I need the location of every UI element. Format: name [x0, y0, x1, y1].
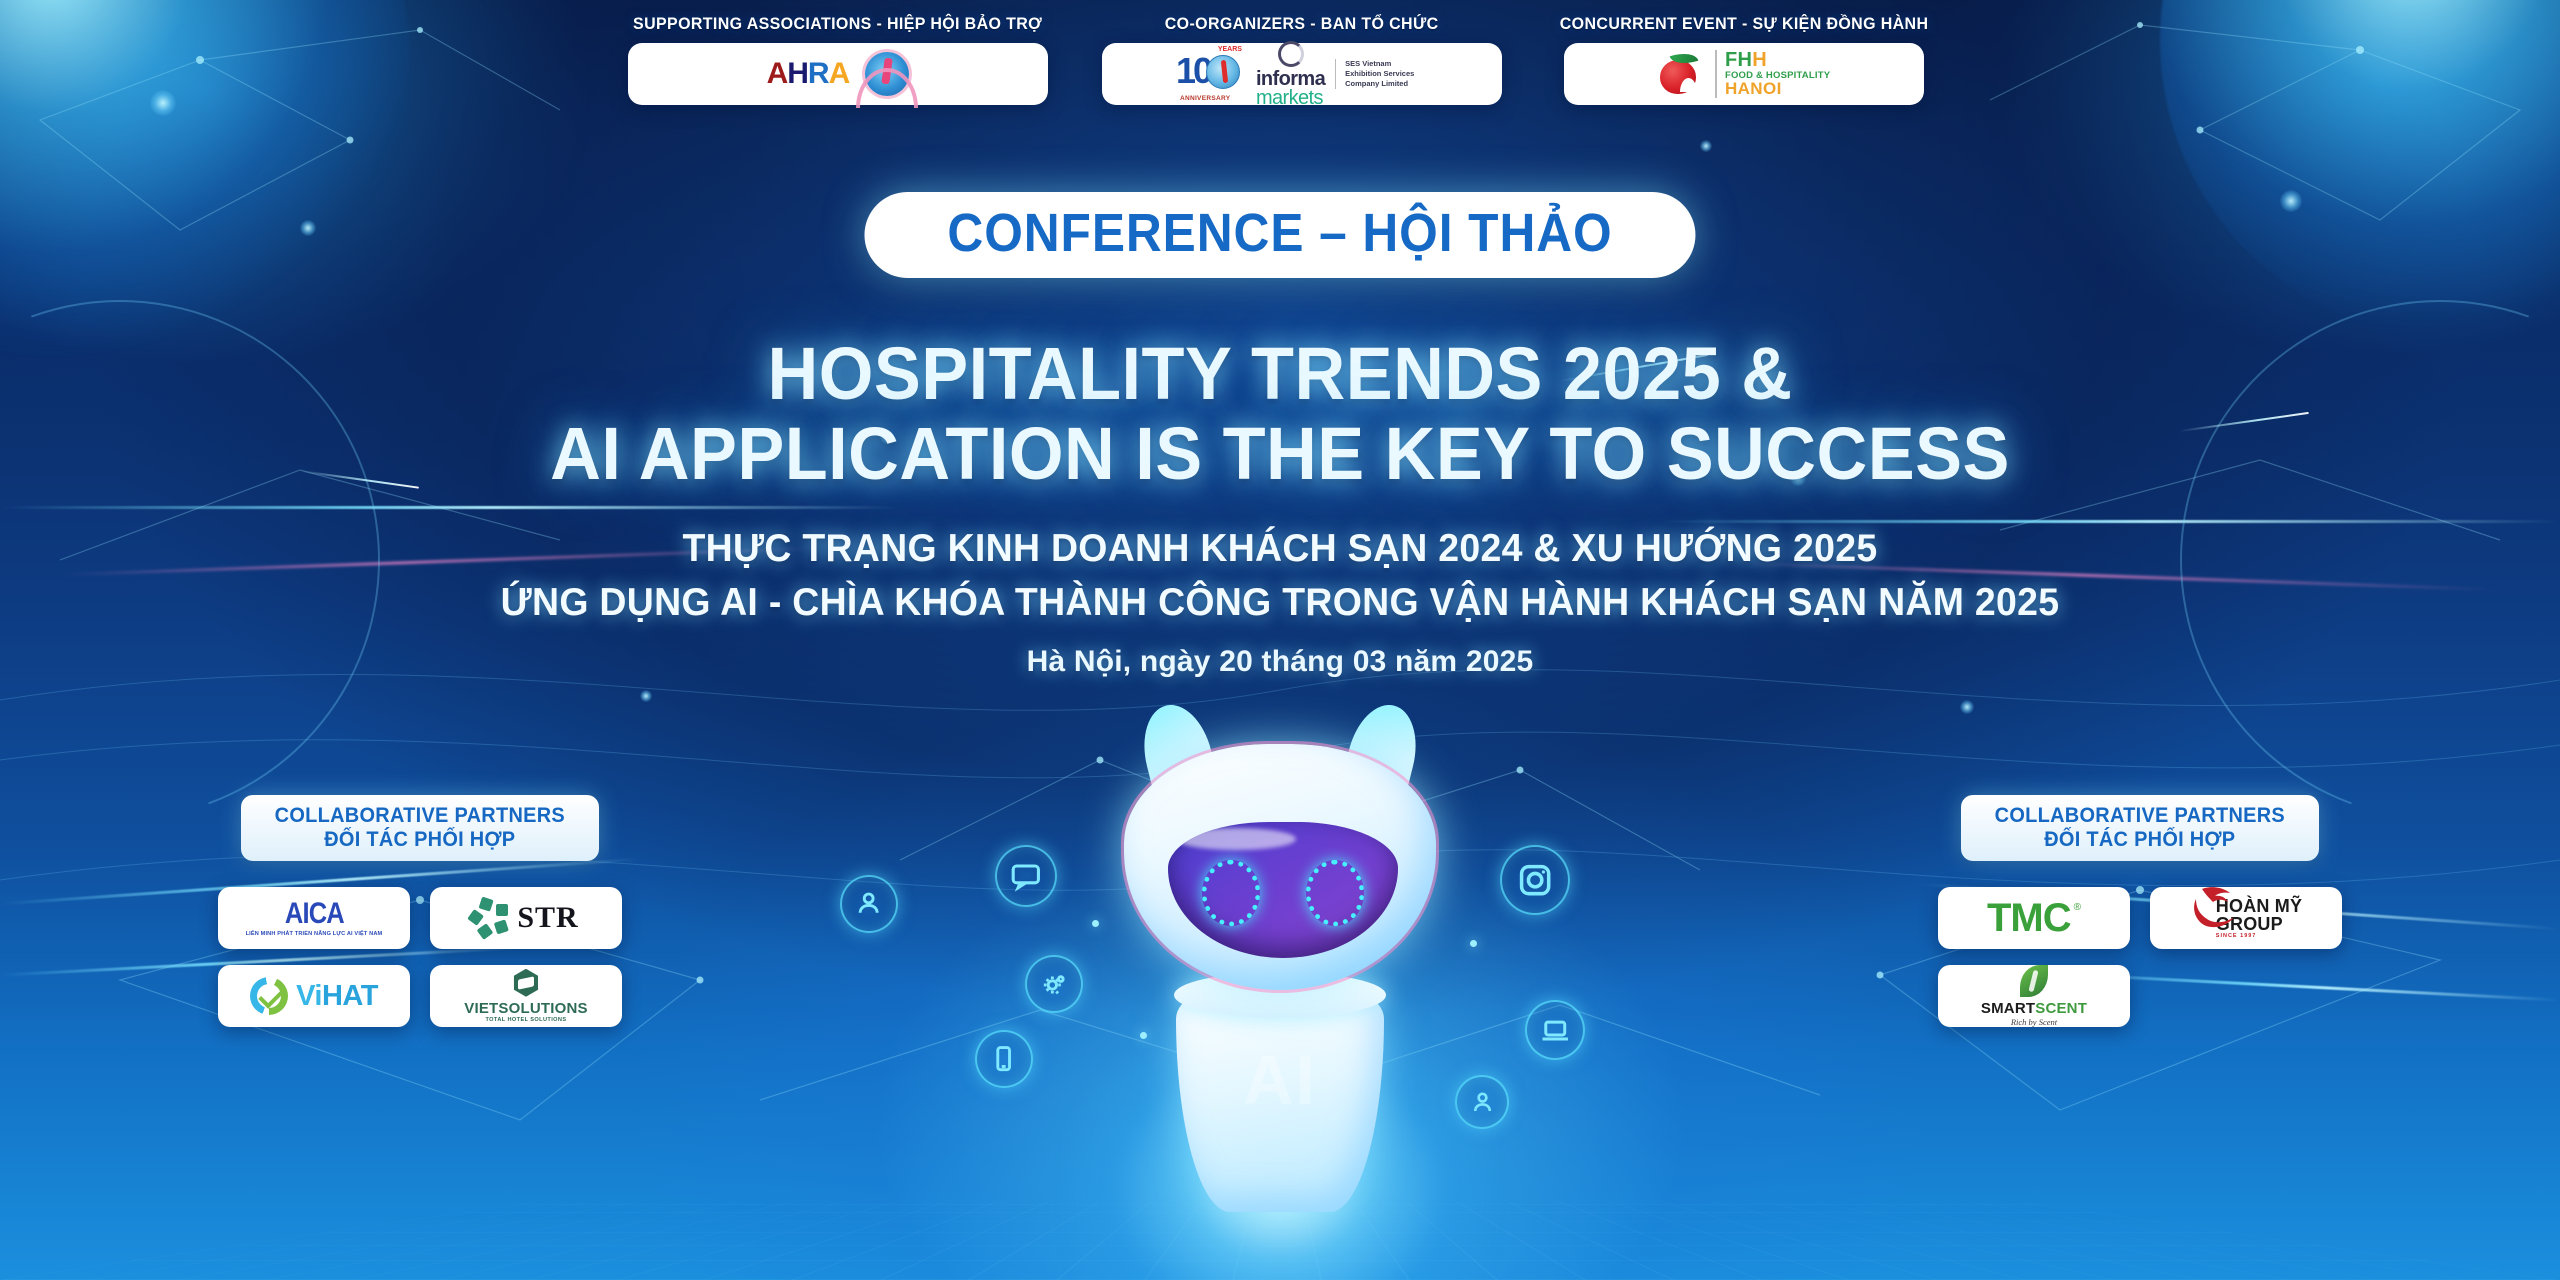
- informa-line1: informa: [1256, 70, 1325, 88]
- str-mark: STR: [517, 901, 578, 935]
- gear-icon: [1025, 955, 1083, 1013]
- co-organizers-group: CO-ORGANIZERS - BAN TỔ CHỨC 10 YEARS ANN…: [1102, 14, 1502, 105]
- partners-left-row-1: AICA LIÊN MINH PHÁT TRIỂN NĂNG LỰC AI VI…: [218, 887, 622, 949]
- visor-shine: [1176, 828, 1296, 850]
- vietsolutions-tagline: TOTAL HOTEL SOLUTIONS: [464, 1018, 587, 1024]
- mascot-eye-right: [1306, 860, 1364, 926]
- mascot-eye-left: [1202, 860, 1260, 926]
- informa-line2: markets: [1256, 89, 1325, 107]
- main-headline: HOSPITALITY TRENDS 2025 & AI APPLICATION…: [0, 334, 2560, 494]
- partners-left-label-vi: ĐỐI TÁC PHỐI HỢP: [275, 828, 565, 852]
- bokeh-dot: [1960, 700, 1974, 714]
- ses-company-text: SES Vietnam Exhibition Services Company …: [1335, 59, 1427, 89]
- partners-left-label-pill: COLLABORATIVE PARTNERS ĐỐI TÁC PHỐI HỢP: [241, 795, 599, 861]
- smartscent-mark-b: SCENT: [2035, 1000, 2087, 1017]
- informa-ring-icon: [1278, 41, 1304, 67]
- ahra-letter-2: H: [787, 57, 808, 90]
- apple-icon: [1657, 54, 1699, 94]
- partners-right-label-pill: COLLABORATIVE PARTNERS ĐỐI TÁC PHỐI HỢP: [1961, 795, 2319, 861]
- aica-mark: AICA: [256, 899, 372, 929]
- partners-left-row-2: ViHAT VIETSOLUTIONS TOTAL HOTEL SOLUTION…: [218, 965, 622, 1027]
- vietsolutions-hex-icon: [512, 969, 540, 997]
- bokeh-dot: [640, 690, 652, 702]
- partners-right-rows: TMC ® HOÀN MỸ GROUP SINCE 1997: [1938, 887, 2342, 1027]
- partner-logo-str: STR: [430, 887, 622, 949]
- fhh-line3: HANOI: [1725, 80, 1830, 97]
- vihat-logo: ViHAT: [250, 977, 378, 1015]
- vietsolutions-mark: VIETSOLUTIONS: [464, 1001, 587, 1016]
- event-date-text: Hà Nội, ngày 20 tháng 03 năm 2025: [1027, 645, 1534, 678]
- camera-icon: [1500, 845, 1570, 915]
- dragon-icon: [2188, 883, 2240, 929]
- smartscent-mark: SMARTSCENT: [1981, 1001, 2087, 1016]
- ahra-letter-1: A: [767, 57, 788, 90]
- smartscent-mark-a: SMART: [1981, 1000, 2035, 1017]
- conference-title-text: CONFERENCE – HỘI THẢO: [947, 206, 1612, 260]
- ahra-letter-3: R: [808, 57, 829, 90]
- bokeh-dot: [1700, 140, 1712, 152]
- partner-logo-vihat: ViHAT: [218, 965, 410, 1027]
- mascot-visor: [1168, 822, 1398, 958]
- anniversary-sub-label: ANNIVERSARY: [1180, 95, 1230, 102]
- tmc-mark: TMC: [1987, 898, 2071, 938]
- vihat-swoosh-icon: [250, 977, 288, 1015]
- concurrent-event-label: CONCURRENT EVENT - SỰ KIỆN ĐỒNG HÀNH: [1559, 14, 1928, 34]
- collaborative-partners-right: COLLABORATIVE PARTNERS ĐỐI TÁC PHỐI HỢP …: [1938, 795, 2342, 1027]
- vha-association-logo: [865, 52, 909, 96]
- partners-right-row-1: TMC ® HOÀN MỸ GROUP SINCE 1997: [1938, 887, 2342, 949]
- anniversary-number: 10: [1176, 53, 1210, 89]
- aica-tagline: LIÊN MINH PHÁT TRIỂN NĂNG LỰC AI VIỆT NA…: [246, 932, 383, 938]
- event-date-line: Hà Nội, ngày 20 tháng 03 năm 2025: [0, 645, 2560, 679]
- ahra-letter-4: A: [829, 57, 850, 90]
- aica-logo: AICA LIÊN MINH PHÁT TRIỂN NĂNG LỰC AI VI…: [246, 899, 383, 938]
- laptop-icon: [1525, 1000, 1585, 1060]
- headline-line-2: AI APPLICATION IS THE KEY TO SUCCESS: [64, 414, 2496, 494]
- partners-left-rows: AICA LIÊN MINH PHÁT TRIỂN NĂNG LỰC AI VI…: [218, 887, 622, 1027]
- partners-right-label-en: COLLABORATIVE PARTNERS: [1995, 804, 2285, 828]
- supporting-associations-group: SUPPORTING ASSOCIATIONS - HIỆP HỘI BẢO T…: [620, 14, 1055, 105]
- partner-logo-aica: AICA LIÊN MINH PHÁT TRIỂN NĂNG LỰC AI VI…: [218, 887, 410, 949]
- anniversary-years-label: YEARS: [1218, 46, 1242, 53]
- partners-right-row-2: SMARTSCENT Rich by Scent: [1938, 965, 2342, 1027]
- supporting-associations-logo-card: AHRA: [628, 43, 1048, 105]
- partner-logo-vietsolutions: VIETSOLUTIONS TOTAL HOTEL SOLUTIONS: [430, 965, 622, 1027]
- partner-logo-tmc: TMC ®: [1938, 887, 2130, 949]
- str-logo: STR: [473, 901, 578, 935]
- network-node: [1470, 940, 1477, 947]
- mascot-head: [1124, 744, 1436, 990]
- informa-markets-logo: informa markets SES Vietnam Exhibition S…: [1256, 41, 1427, 107]
- tmc-registered-mark: ®: [2074, 902, 2081, 913]
- smartscent-logo: SMARTSCENT Rich by Scent: [1981, 965, 2087, 1027]
- mascot-chest-mark: AI: [1100, 1040, 1460, 1120]
- hoan-my-line3: SINCE 1997: [2216, 934, 2302, 940]
- user-icon: [840, 875, 898, 933]
- partners-right-label-vi: ĐỐI TÁC PHỐI HỢP: [1995, 828, 2285, 852]
- concurrent-event-logo-card: FHH FOOD & HOSPITALITY HANOI: [1564, 43, 1924, 105]
- concurrent-event-group: CONCURRENT EVENT - SỰ KIỆN ĐỒNG HÀNH FHH…: [1548, 14, 1940, 105]
- conference-title-pill: CONFERENCE – HỘI THẢO: [864, 192, 1695, 278]
- bokeh-dot: [2280, 190, 2302, 212]
- mobile-icon: [975, 1030, 1033, 1088]
- vihat-mark-a: Vi: [296, 980, 322, 1012]
- vchs-anniversary-logo: 10 YEARS ANNIVERSARY: [1176, 49, 1240, 99]
- collaborative-partners-left: COLLABORATIVE PARTNERS ĐỐI TÁC PHỐI HỢP …: [218, 795, 622, 1027]
- fhh-logo-text: FHH FOOD & HOSPITALITY HANOI: [1715, 50, 1830, 97]
- co-organizers-logo-card: 10 YEARS ANNIVERSARY informa markets SES…: [1102, 43, 1502, 105]
- subtitle-line-1: THỰC TRẠNG KINH DOANH KHÁCH SẠN 2024 & X…: [51, 522, 2509, 576]
- informa-text-block: informa markets: [1256, 41, 1325, 107]
- supporting-associations-label: SUPPORTING ASSOCIATIONS - HIỆP HỘI BẢO T…: [633, 14, 1042, 34]
- top-partner-strip: SUPPORTING ASSOCIATIONS - HIỆP HỘI BẢO T…: [0, 14, 2560, 105]
- network-node: [1092, 920, 1099, 927]
- str-pinwheel-icon: [473, 901, 507, 935]
- bokeh-dot: [300, 220, 316, 236]
- ai-robot-mascot: AI: [1100, 710, 1460, 1210]
- vihat-mark: ViHAT: [296, 980, 378, 1013]
- partners-left-label-en: COLLABORATIVE PARTNERS: [275, 804, 565, 828]
- partner-logo-smartscent: SMARTSCENT Rich by Scent: [1938, 965, 2130, 1027]
- vietsolutions-logo: VIETSOLUTIONS TOTAL HOTEL SOLUTIONS: [464, 969, 587, 1024]
- hoan-my-logo: HOÀN MỸ GROUP SINCE 1997: [2190, 897, 2302, 939]
- fhh-initials: FHH: [1725, 50, 1830, 70]
- chat-icon: [995, 845, 1057, 907]
- smartscent-leaf-icon: [2020, 965, 2048, 997]
- headline-line-1: HOSPITALITY TRENDS 2025 &: [64, 334, 2496, 414]
- subtitle-line-2: ỨNG DỤNG AI - CHÌA KHÓA THÀNH CÔNG TRONG…: [51, 576, 2509, 630]
- conference-banner: AI SUPPORTING ASSOCIATIONS - HIỆP HỘI BẢ…: [0, 0, 2560, 1280]
- vihat-mark-b: HAT: [322, 980, 378, 1012]
- vietnam-globe-icon: [1206, 55, 1240, 89]
- co-organizers-label: CO-ORGANIZERS - BAN TỔ CHỨC: [1165, 14, 1439, 34]
- subtitle-block: THỰC TRẠNG KINH DOANH KHÁCH SẠN 2024 & X…: [0, 522, 2560, 630]
- smartscent-tagline: Rich by Scent: [1981, 1018, 2087, 1027]
- ahra-logo: AHRA: [767, 59, 850, 89]
- partner-logo-hoan-my-group: HOÀN MỸ GROUP SINCE 1997: [2150, 887, 2342, 949]
- tmc-logo: TMC ®: [1987, 898, 2081, 938]
